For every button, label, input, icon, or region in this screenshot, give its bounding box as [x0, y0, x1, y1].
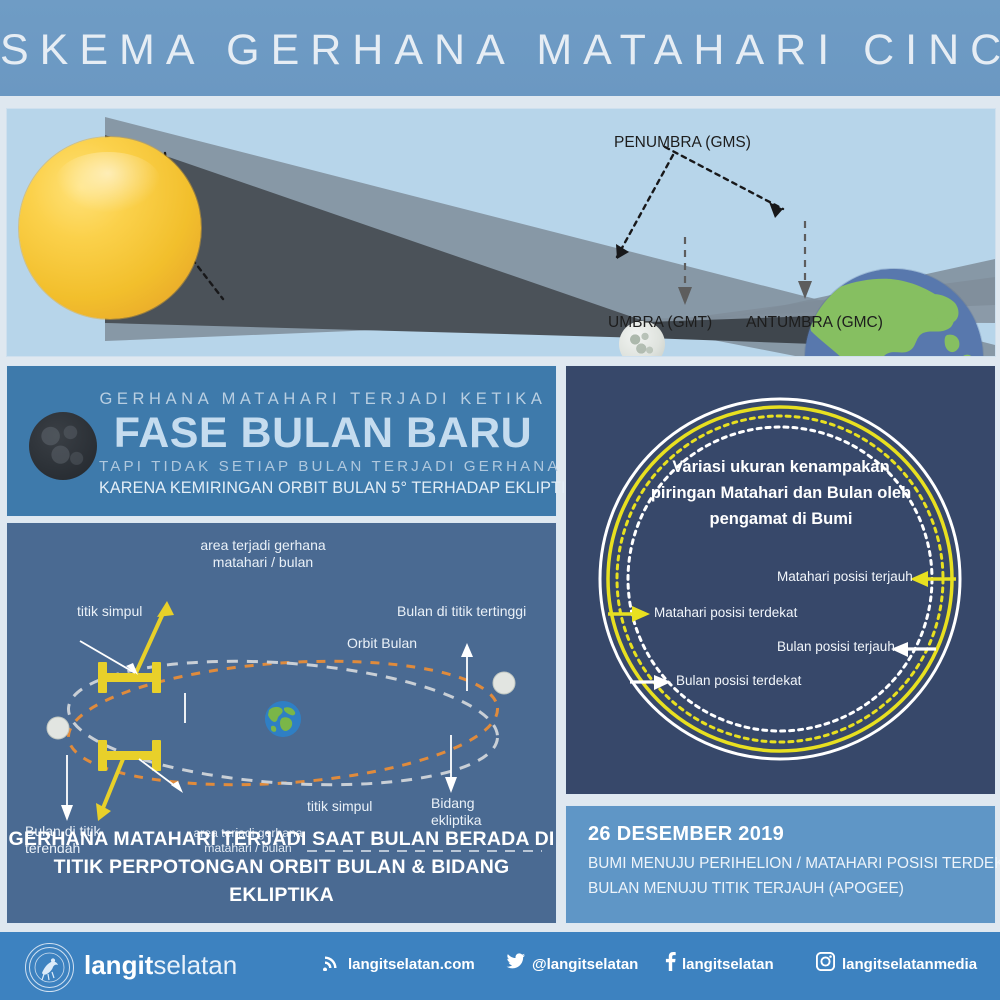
facebook-icon — [664, 952, 676, 976]
new-moon-phase-panel: GERHANA MATAHARI TERJADI KETIKA FASE BUL… — [6, 365, 557, 517]
orbit-diagram-panel: area terjadi gerhana matahari / bulan ti… — [6, 522, 557, 924]
brand-bold: langit — [84, 950, 153, 980]
label-sun-farthest: Matahari posisi terjauh — [777, 569, 913, 584]
date-note-1: BUMI MENUJU PERIHELION / MATAHARI POSISI… — [588, 855, 1000, 873]
new-moon-icon — [29, 412, 97, 480]
infographic-page: SKEMA GERHANA MATAHARI CINCIN — [0, 0, 1000, 1000]
label-antumbra: ANTUMBRA (GMC) — [746, 314, 883, 332]
langitselatan-seal-logo[interactable] — [25, 943, 74, 992]
twitter-icon — [506, 952, 526, 976]
brand-light: selatan — [153, 950, 237, 980]
label-area-eclipse-top-l1: area terjadi gerhana — [163, 537, 363, 554]
label-moon-nearest: Bulan posisi terdekat — [676, 673, 801, 688]
facebook-link[interactable]: langitselatan — [682, 956, 774, 973]
label-moon-orbit: Orbit Bulan — [347, 635, 417, 652]
instagram-link[interactable]: langitselatanmedia — [842, 956, 977, 973]
label-ecliptic-plane-l1: Bidang — [431, 795, 482, 812]
orbit-footer-l2: TITIK PERPOTONGAN ORBIT BULAN & BIDANG E… — [7, 853, 556, 909]
circles-title-l2: piringan Matahari dan Bulan oleh — [618, 480, 944, 506]
apparent-size-panel: Variasi ukuran kenampakan piringan Matah… — [565, 365, 996, 795]
date-info-panel: 26 DESEMBER 2019 BUMI MENUJU PERIHELION … — [565, 805, 996, 924]
circles-title-l3: pengamat di Bumi — [618, 506, 944, 532]
phase-line-4: KARENA KEMIRINGAN ORBIT BULAN 5° TERHADA… — [99, 479, 547, 498]
brand-wordmark[interactable]: langitselatan — [84, 950, 237, 981]
label-node-top: titik simpul — [77, 603, 142, 620]
instagram-icon — [816, 952, 835, 976]
orbit-footer-l1: GERHANA MATAHARI TERJADI SAAT BULAN BERA… — [7, 825, 556, 853]
phase-text-block: GERHANA MATAHARI TERJADI KETIKA FASE BUL… — [99, 390, 547, 498]
page-title: SKEMA GERHANA MATAHARI CINCIN — [0, 26, 1000, 75]
sun-body — [19, 137, 201, 319]
label-area-eclipse-top: area terjadi gerhana matahari / bulan — [163, 537, 363, 571]
twitter-link[interactable]: @langitselatan — [532, 956, 638, 973]
sun-highlight — [55, 152, 161, 214]
earth-small-icon — [265, 701, 301, 737]
circles-title-l1: Variasi ukuran kenampakan — [618, 454, 944, 480]
footer-bar: langitselatan langitselatan.com @langits… — [0, 932, 1000, 1000]
label-ecliptic-plane: Bidang ekliptika — [431, 795, 482, 829]
label-node-bottom: titik simpul — [307, 798, 372, 815]
phase-line-1: GERHANA MATAHARI TERJADI KETIKA — [99, 390, 547, 409]
label-penumbra: PENUMBRA (GMS) — [614, 134, 751, 152]
website-link[interactable]: langitselatan.com — [348, 956, 475, 973]
rss-icon — [322, 952, 341, 976]
date-note-2: BULAN MENUJU TITIK TERJAUH (APOGEE) — [588, 880, 904, 898]
eclipse-date: 26 DESEMBER 2019 — [588, 823, 784, 846]
label-umbra: UMBRA (GMT) — [608, 314, 712, 332]
label-moon-highest: Bulan di titik tertinggi — [397, 603, 526, 620]
seal-graphic — [26, 944, 73, 991]
header-bar: SKEMA GERHANA MATAHARI CINCIN — [0, 0, 1000, 96]
earth-small-continents — [265, 701, 301, 737]
label-moon-farthest: Bulan posisi terjauh — [777, 639, 895, 654]
phase-headline: FASE BULAN BARU — [99, 409, 547, 457]
label-area-eclipse-top-l2: matahari / bulan — [163, 554, 363, 571]
label-sun-nearest: Matahari posisi terdekat — [654, 605, 797, 620]
phase-line-3: TAPI TIDAK SETIAP BULAN TERJADI GERHANA — [99, 458, 547, 475]
circles-title: Variasi ukuran kenampakan piringan Matah… — [618, 454, 944, 532]
orbit-footer-text: GERHANA MATAHARI TERJADI SAAT BULAN BERA… — [7, 825, 556, 909]
eclipse-diagram-panel: PENUMBRA (GMS) UMBRA (GMT) ANTUMBRA (GMC… — [6, 108, 996, 357]
